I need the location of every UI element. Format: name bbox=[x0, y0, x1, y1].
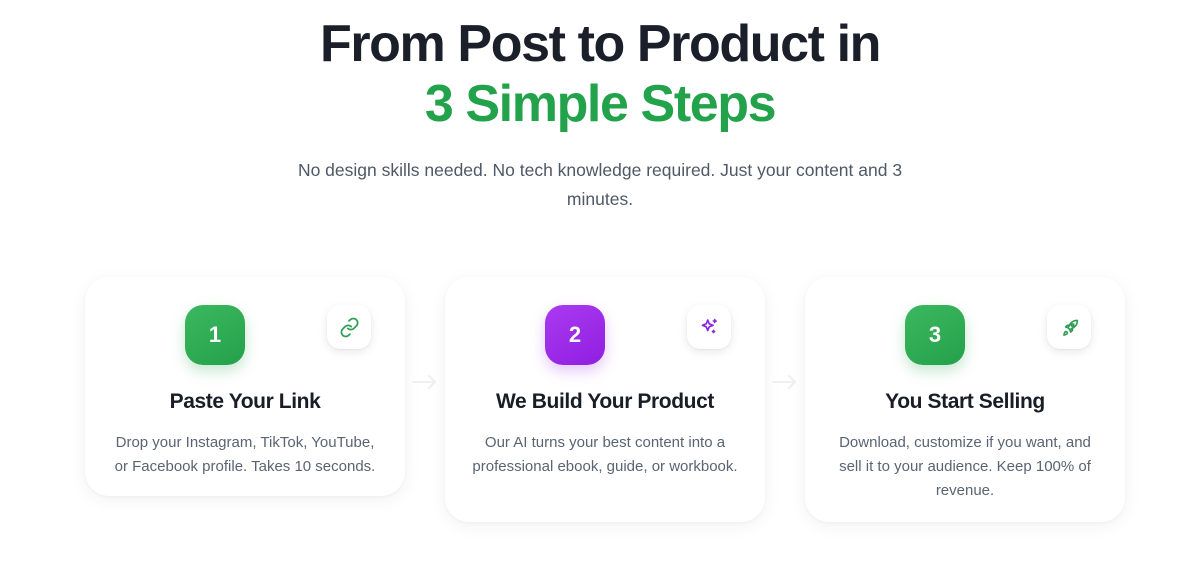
step-icon-tile-3 bbox=[1047, 305, 1091, 349]
step-title-3: You Start Selling bbox=[831, 389, 1099, 415]
sparkles-icon bbox=[699, 317, 720, 338]
arrow-right-icon bbox=[770, 372, 800, 397]
step-connector-arrow-1 bbox=[407, 372, 443, 396]
step-number-2: 2 bbox=[569, 324, 581, 346]
page-title: From Post to Product in 3 Simple Steps bbox=[0, 14, 1200, 134]
step-number-1: 1 bbox=[209, 324, 221, 346]
headline-line-1: From Post to Product in bbox=[320, 15, 880, 73]
step-connector-arrow-2 bbox=[767, 372, 803, 396]
section-header: From Post to Product in 3 Simple Steps N… bbox=[0, 0, 1200, 214]
steps-row: 1 Paste Your Link Drop your Instagram, T… bbox=[85, 277, 1125, 527]
rocket-icon bbox=[1059, 317, 1080, 338]
step-number-badge-2: 2 bbox=[545, 305, 605, 365]
step-card-3-top: 3 bbox=[831, 305, 1099, 377]
step-number-badge-1: 1 bbox=[185, 305, 245, 365]
step-description-3: Download, customize if you want, and sel… bbox=[831, 431, 1099, 503]
step-card-1[interactable]: 1 Paste Your Link Drop your Instagram, T… bbox=[85, 277, 405, 496]
step-card-1-top: 1 bbox=[111, 305, 379, 377]
step-number-badge-3: 3 bbox=[905, 305, 965, 365]
step-number-3: 3 bbox=[929, 324, 941, 346]
step-icon-tile-1 bbox=[327, 305, 371, 349]
arrow-right-icon bbox=[410, 372, 440, 397]
section-subtitle: No design skills needed. No tech knowled… bbox=[280, 156, 920, 214]
step-card-2[interactable]: 2 We Build Your Product Our AI bbox=[445, 277, 765, 522]
step-description-2: Our AI turns your best content into a pr… bbox=[471, 431, 739, 479]
how-it-works-section: From Post to Product in 3 Simple Steps N… bbox=[0, 0, 1200, 567]
step-description-1: Drop your Instagram, TikTok, YouTube, or… bbox=[111, 431, 379, 479]
headline-line-2: 3 Simple Steps bbox=[0, 74, 1200, 134]
step-title-2: We Build Your Product bbox=[471, 389, 739, 415]
step-title-1: Paste Your Link bbox=[111, 389, 379, 415]
step-card-2-top: 2 bbox=[471, 305, 739, 377]
step-icon-tile-2 bbox=[687, 305, 731, 349]
link-icon bbox=[339, 317, 360, 338]
step-card-3[interactable]: 3 You Start Selling Download, c bbox=[805, 277, 1125, 522]
